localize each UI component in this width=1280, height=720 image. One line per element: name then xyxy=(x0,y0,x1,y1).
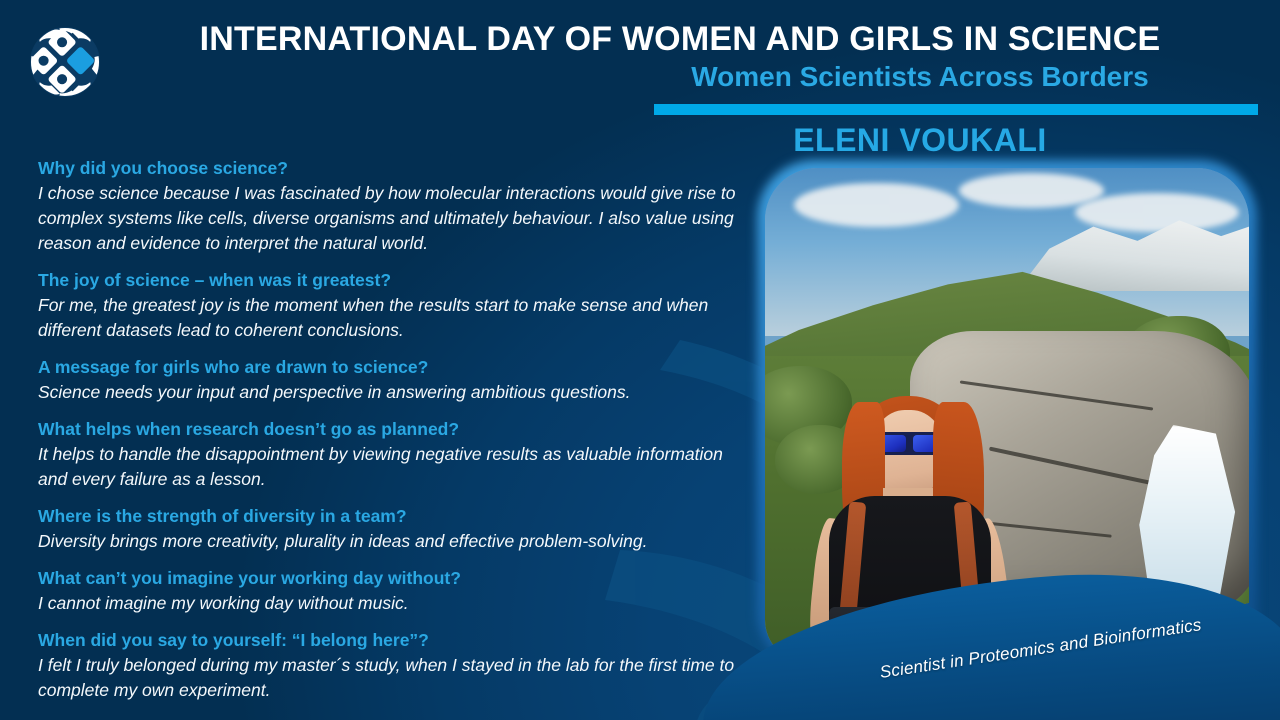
photo-clip xyxy=(765,168,1249,662)
scientist-photo xyxy=(757,160,1257,670)
qa-question: Where is the strength of diversity in a … xyxy=(38,504,753,528)
qa-answer: Diversity brings more creativity, plural… xyxy=(38,529,753,554)
interview-qa-list: Why did you choose science? I chose scie… xyxy=(38,156,753,703)
qa-question: The joy of science – when was it greates… xyxy=(38,268,753,292)
qa-question: A message for girls who are drawn to sci… xyxy=(38,355,753,379)
qa-question: Why did you choose science? xyxy=(38,156,753,180)
cloud xyxy=(794,183,959,227)
qa-question: When did you say to yourself: “I belong … xyxy=(38,628,753,652)
photo-scene-alpine xyxy=(765,168,1249,662)
qa-answer: It helps to handle the disappointment by… xyxy=(38,442,753,492)
page-subtitle: Women Scientists Across Borders xyxy=(620,58,1220,96)
un-globe-diamond-logo-icon xyxy=(23,20,107,104)
qa-question: What can’t you imagine your working day … xyxy=(38,566,753,590)
qa-item: When did you say to yourself: “I belong … xyxy=(38,628,753,703)
hiker-figure xyxy=(813,385,1007,662)
scientist-name: ELENI VOUKALI xyxy=(620,120,1220,160)
qa-answer: I chose science because I was fascinated… xyxy=(38,181,753,256)
poster-canvas: INTERNATIONAL DAY OF WOMEN AND GIRLS IN … xyxy=(0,0,1280,720)
cloud xyxy=(959,173,1104,208)
qa-item: What can’t you imagine your working day … xyxy=(38,566,753,616)
qa-item: A message for girls who are drawn to sci… xyxy=(38,355,753,405)
qa-item: The joy of science – when was it greates… xyxy=(38,268,753,343)
cloud xyxy=(1075,193,1240,233)
qa-answer: I cannot imagine my working day without … xyxy=(38,591,753,616)
poster-header: INTERNATIONAL DAY OF WOMEN AND GIRLS IN … xyxy=(0,0,1280,120)
accent-divider-bar xyxy=(654,104,1258,115)
qa-answer: Science needs your input and perspective… xyxy=(38,380,753,405)
qa-item: Why did you choose science? I chose scie… xyxy=(38,156,753,256)
page-title: INTERNATIONAL DAY OF WOMEN AND GIRLS IN … xyxy=(140,17,1220,61)
qa-question: What helps when research doesn’t go as p… xyxy=(38,417,753,441)
qa-item: Where is the strength of diversity in a … xyxy=(38,504,753,554)
qa-answer: I felt I truly belonged during my master… xyxy=(38,653,753,703)
qa-answer: For me, the greatest joy is the moment w… xyxy=(38,293,753,343)
qa-item: What helps when research doesn’t go as p… xyxy=(38,417,753,492)
